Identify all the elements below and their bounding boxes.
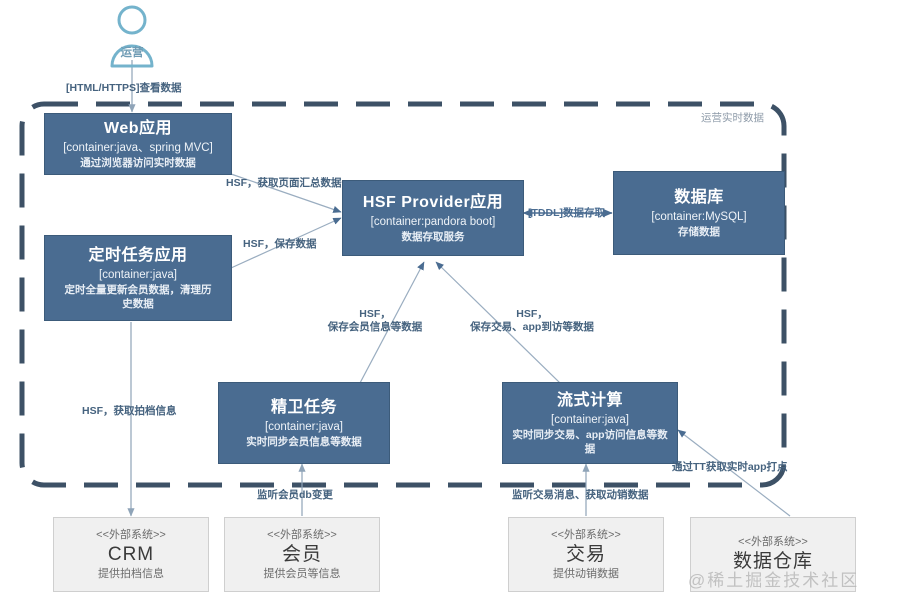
watermark: @稀土掘金技术社区	[688, 566, 859, 591]
edge-label-member-jingwei: 监听会员db变更	[257, 489, 333, 502]
node-desc: 存储数据	[678, 225, 720, 239]
external-desc: 提供动销数据	[553, 567, 619, 582]
edge-label-stream-hsf-line2: 保存交易、app到访等数据	[452, 321, 612, 334]
node-title: Web应用	[104, 119, 172, 139]
external-system-trade[interactable]: <<外部系统>> 交易 提供动销数据	[508, 517, 664, 592]
external-stereotype: <<外部系统>>	[738, 535, 808, 550]
edge-label-trade-stream: 监听交易消息、获取动销数据	[512, 489, 649, 502]
edge-label-jingwei-hsf-line1: HSF，	[310, 308, 440, 321]
node-desc: 实时同步交易、app访问信息等数据	[509, 428, 671, 456]
edge-label-stream-hsf-line1: HSF，	[452, 308, 612, 321]
edge-label-stream-hsf: HSF， 保存交易、app到访等数据	[452, 308, 612, 334]
node-database[interactable]: 数据库 [container:MySQL] 存储数据	[613, 171, 785, 255]
node-stream-computing[interactable]: 流式计算 [container:java] 实时同步交易、app访问信息等数据	[502, 382, 678, 464]
node-jingwei-task[interactable]: 精卫任务 [container:java] 实时同步会员信息等数据	[218, 382, 390, 464]
node-desc: 实时同步会员信息等数据	[246, 435, 362, 449]
node-scheduled-task-application[interactable]: 定时任务应用 [container:java] 定时全量更新会员数据，清理历史数…	[44, 235, 232, 321]
node-container: [container:pandora boot]	[371, 215, 496, 230]
edge-label-jingwei-hsf: HSF， 保存会员信息等数据	[310, 308, 440, 334]
node-container: [container:java]	[551, 413, 629, 428]
external-name: 会员	[282, 543, 322, 567]
external-system-crm[interactable]: <<外部系统>> CRM 提供拍档信息	[53, 517, 209, 592]
node-container: [container:java]	[265, 420, 343, 435]
node-title: 定时任务应用	[88, 246, 187, 266]
node-container: [container:java、spring MVC]	[63, 141, 213, 156]
external-desc: 提供会员等信息	[264, 567, 341, 582]
node-title: HSF Provider应用	[363, 193, 503, 213]
node-container: [container:java]	[99, 268, 177, 283]
external-name: CRM	[108, 543, 154, 567]
edge-label-web-hsf: HSF，获取页面汇总数据	[226, 177, 342, 190]
edge-label-actor-web: [HTML/HTTPS]查看数据	[66, 82, 182, 95]
external-stereotype: <<外部系统>>	[551, 528, 621, 543]
external-stereotype: <<外部系统>>	[267, 528, 337, 543]
node-web-application[interactable]: Web应用 [container:java、spring MVC] 通过浏览器访…	[44, 113, 232, 175]
boundary-label: 运营实时数据	[701, 112, 764, 125]
external-name: 交易	[566, 543, 606, 567]
edge-label-cron-crm: HSF，获取拍档信息	[82, 405, 177, 418]
node-title: 精卫任务	[271, 398, 337, 418]
node-container: [container:MySQL]	[651, 210, 746, 225]
node-desc: 定时全量更新会员数据，清理历史数据	[51, 283, 225, 311]
user-icon	[106, 4, 158, 70]
actor-label: 运营	[86, 44, 178, 60]
node-desc: 通过浏览器访问实时数据	[80, 156, 196, 170]
edge-label-jingwei-hsf-line2: 保存会员信息等数据	[310, 321, 440, 334]
edge-label-hsf-db: [TDDL]数据存取	[528, 207, 605, 220]
edge-label-cron-hsf: HSF，保存数据	[243, 238, 317, 251]
node-title: 流式计算	[557, 391, 623, 411]
node-title: 数据库	[674, 188, 724, 208]
external-system-member[interactable]: <<外部系统>> 会员 提供会员等信息	[224, 517, 380, 592]
external-stereotype: <<外部系统>>	[96, 528, 166, 543]
node-hsf-provider-application[interactable]: HSF Provider应用 [container:pandora boot] …	[342, 180, 524, 256]
architecture-diagram: 运营 [HTML/HTTPS]查看数据 运营实时数据 HSF，获取页面汇总数据 …	[0, 0, 904, 608]
node-desc: 数据存取服务	[402, 230, 465, 244]
external-desc: 提供拍档信息	[98, 567, 164, 582]
edge-label-warehouse-stream: 通过TT获取实时app打点	[672, 461, 788, 474]
